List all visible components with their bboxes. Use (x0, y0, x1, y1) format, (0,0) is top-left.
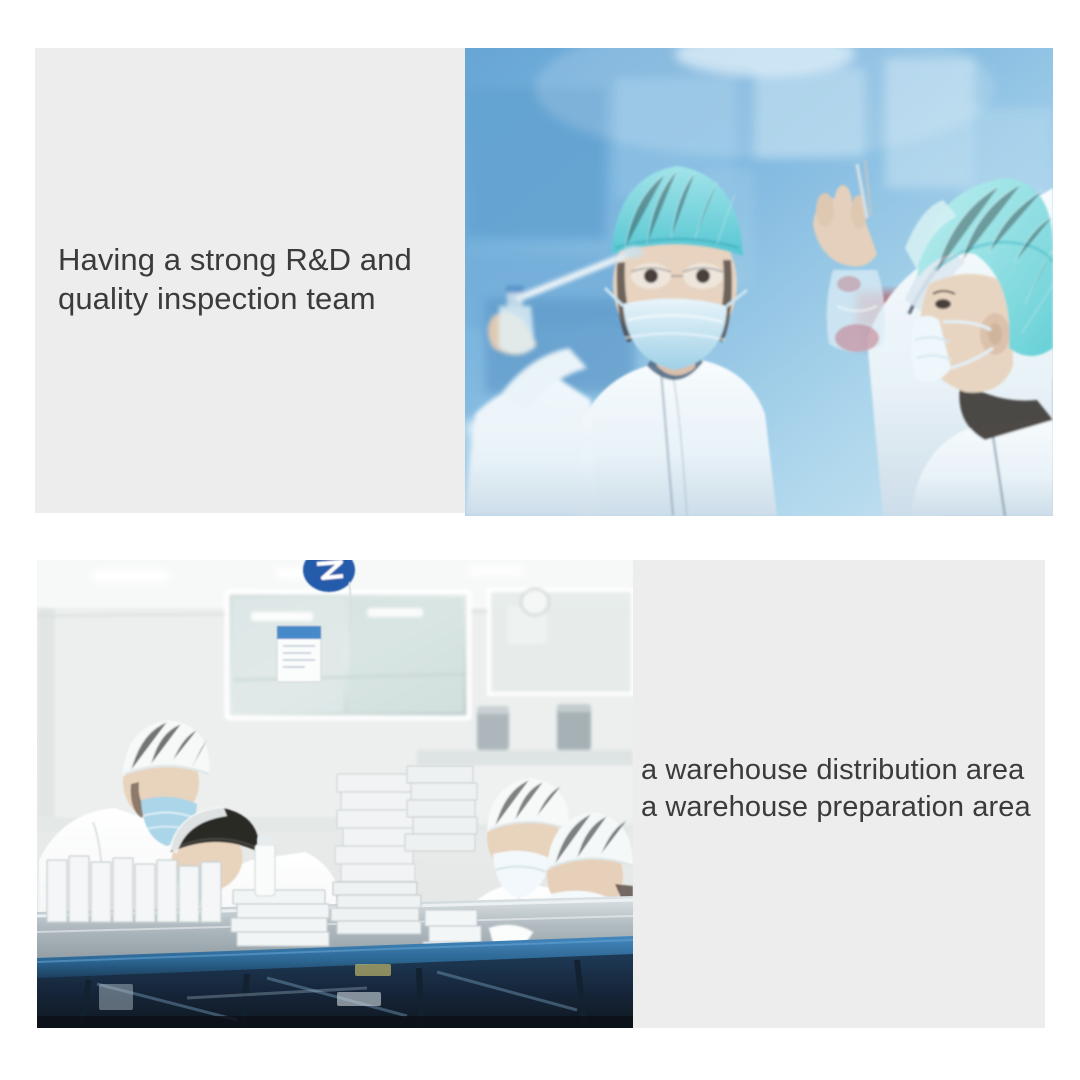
warehouse-packing-photo (37, 560, 633, 1028)
top-caption-text: Having a strong R&D and quality inspecti… (58, 240, 458, 318)
top-caption-panel: Having a strong R&D and quality inspecti… (35, 48, 465, 513)
warehouse-packing-photo-graphic (37, 560, 633, 1028)
top-block: Having a strong R&D and quality inspecti… (35, 48, 1053, 516)
bottom-block: a warehouse distribution area a warehous… (37, 560, 1045, 1028)
bottom-caption-panel: a warehouse distribution area a warehous… (633, 560, 1045, 1028)
lab-inspection-photo (465, 48, 1053, 516)
bottom-caption-text: a warehouse distribution area a warehous… (641, 752, 1045, 825)
lab-inspection-photo-graphic (465, 48, 1053, 516)
